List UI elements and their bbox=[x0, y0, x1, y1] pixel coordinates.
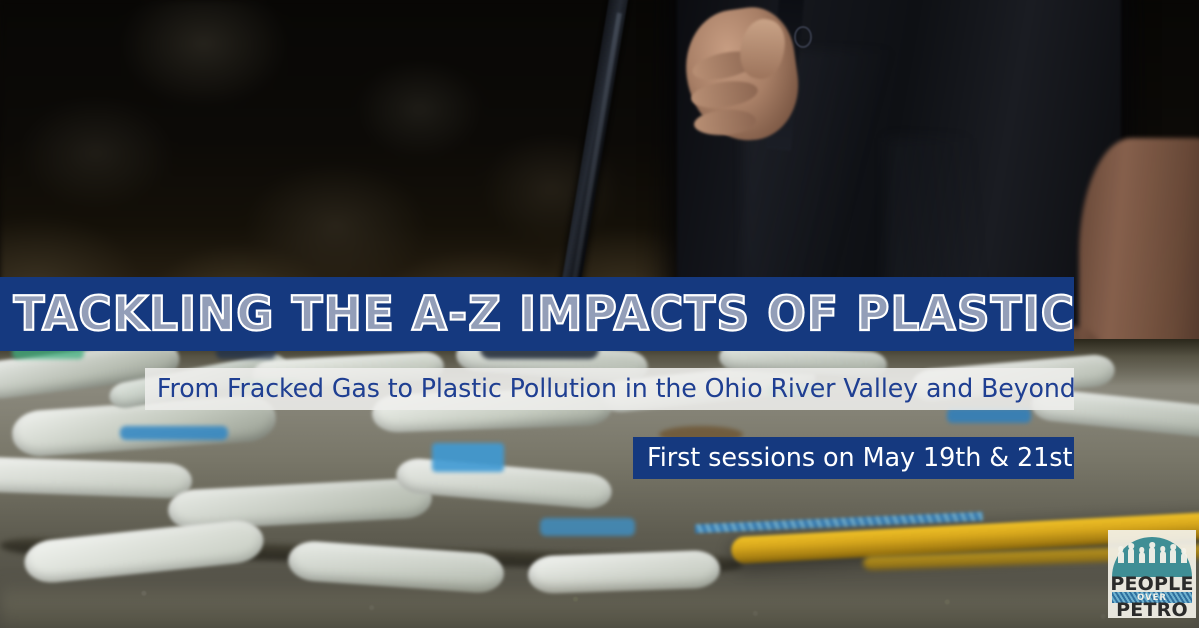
bottle-label-blue bbox=[947, 408, 1031, 422]
silhouette-figure bbox=[1170, 549, 1176, 563]
people-silhouette-icon bbox=[1113, 541, 1191, 563]
page-title: TACKLING THE A-Z IMPACTS OF PLASTIC bbox=[0, 291, 1075, 338]
foreground-blur bbox=[0, 579, 1199, 628]
bottle-label-blue bbox=[120, 426, 228, 440]
bottle-label-blue bbox=[432, 443, 504, 472]
silhouette-figure bbox=[1128, 548, 1134, 563]
page-subtitle: From Fracked Gas to Plastic Pollution in… bbox=[145, 374, 1076, 404]
session-date-banner: First sessions on May 19th & 21st bbox=[633, 437, 1074, 479]
promotional-poster: TACKLING THE A-Z IMPACTS OF PLASTIC From… bbox=[0, 0, 1199, 628]
silhouette-figure bbox=[1118, 551, 1124, 563]
title-banner: TACKLING THE A-Z IMPACTS OF PLASTIC bbox=[0, 277, 1074, 351]
plastic-bottle bbox=[0, 456, 192, 499]
strap-ring-icon bbox=[794, 26, 812, 47]
bottle-label-blue bbox=[540, 518, 636, 535]
plastic-bottle bbox=[22, 517, 265, 585]
people-over-petro-logo[interactable]: PEOPLE OVER PETRO bbox=[1108, 530, 1196, 618]
logo-line-petro: PETRO bbox=[1108, 601, 1196, 618]
silhouette-figure bbox=[1181, 553, 1187, 563]
silhouette-figure bbox=[1160, 551, 1166, 563]
session-date-text: First sessions on May 19th & 21st bbox=[633, 443, 1072, 473]
silhouette-figure bbox=[1139, 552, 1145, 563]
subtitle-banner: From Fracked Gas to Plastic Pollution in… bbox=[145, 368, 1074, 410]
silhouette-figure bbox=[1149, 547, 1155, 563]
